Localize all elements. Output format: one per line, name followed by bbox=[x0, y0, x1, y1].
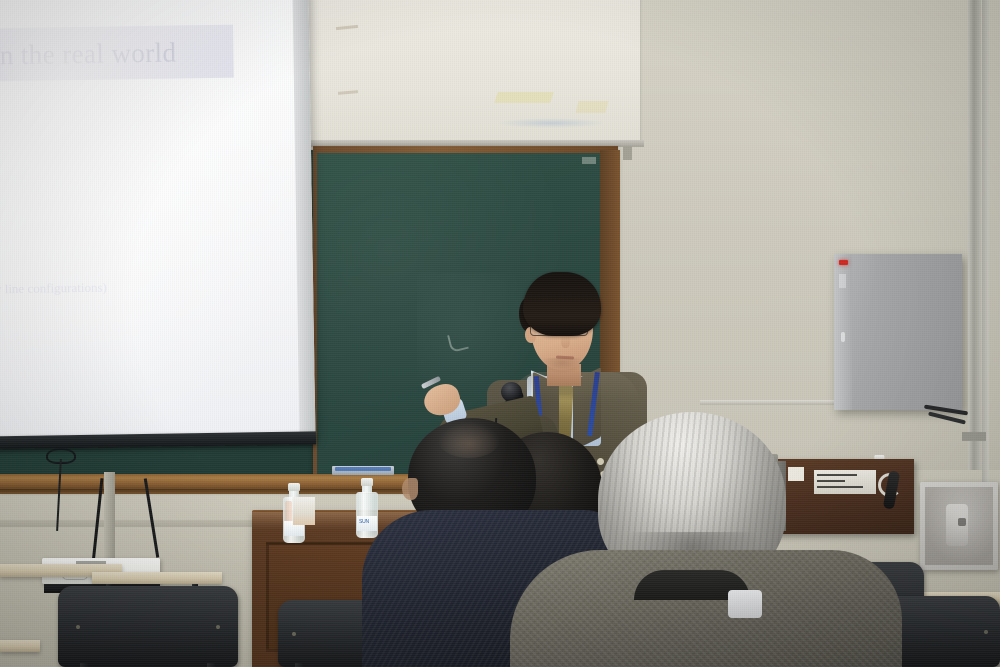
conduit-bracket bbox=[962, 432, 986, 441]
projection-screen: es in the real world es of wheat) method… bbox=[0, 0, 316, 445]
wall-conduit bbox=[968, 0, 981, 470]
bottle-cap bbox=[361, 478, 373, 486]
masking-tape bbox=[494, 92, 554, 103]
presenter-nose bbox=[561, 334, 570, 348]
bottle-cap bbox=[288, 483, 300, 491]
screen-reflection-detail bbox=[958, 518, 966, 526]
wall-conduit-left bbox=[104, 472, 115, 568]
classroom-desk bbox=[0, 640, 40, 652]
cabinet-vent bbox=[839, 274, 846, 288]
cabinet-latch[interactable] bbox=[841, 332, 845, 342]
tissue-box bbox=[293, 497, 315, 525]
classroom-desk bbox=[92, 572, 222, 584]
lecture-hall-photo: es in the real world es of wheat) method… bbox=[0, 0, 1000, 667]
masking-tape bbox=[576, 101, 609, 113]
wall-cabinet[interactable] bbox=[834, 254, 962, 410]
classroom-chair bbox=[58, 586, 238, 667]
whiteboard-rail bbox=[700, 400, 840, 405]
wall-mark bbox=[338, 90, 358, 95]
panel-bracket bbox=[623, 146, 632, 160]
bottle-tint bbox=[285, 501, 292, 523]
bottle-brand-text: SUN bbox=[359, 519, 369, 525]
attendee-scalp bbox=[438, 422, 500, 458]
attendee-ear bbox=[402, 478, 418, 500]
slide-bullet: neer (assembly line configurations) bbox=[0, 279, 107, 299]
whiteboard-panel bbox=[300, 0, 640, 142]
bottle-label: SUN bbox=[357, 516, 377, 531]
slide-surface: es in the real world es of wheat) method… bbox=[0, 0, 316, 445]
laptop-screen[interactable] bbox=[920, 482, 998, 570]
wall-mark bbox=[496, 118, 606, 128]
attendee-grey-hair bbox=[556, 412, 856, 667]
presenter-chin-shadow bbox=[539, 358, 585, 374]
wall-mark bbox=[336, 25, 358, 30]
presenter-hair bbox=[523, 272, 601, 336]
chalkboard-tag bbox=[582, 157, 596, 164]
bottle-body bbox=[356, 492, 378, 538]
slide-title: es in the real world bbox=[0, 32, 262, 75]
power-indicator-icon bbox=[839, 260, 848, 265]
attendee-shirt bbox=[728, 590, 762, 618]
wall-conduit bbox=[982, 0, 989, 560]
attendee-jacket bbox=[510, 550, 902, 667]
